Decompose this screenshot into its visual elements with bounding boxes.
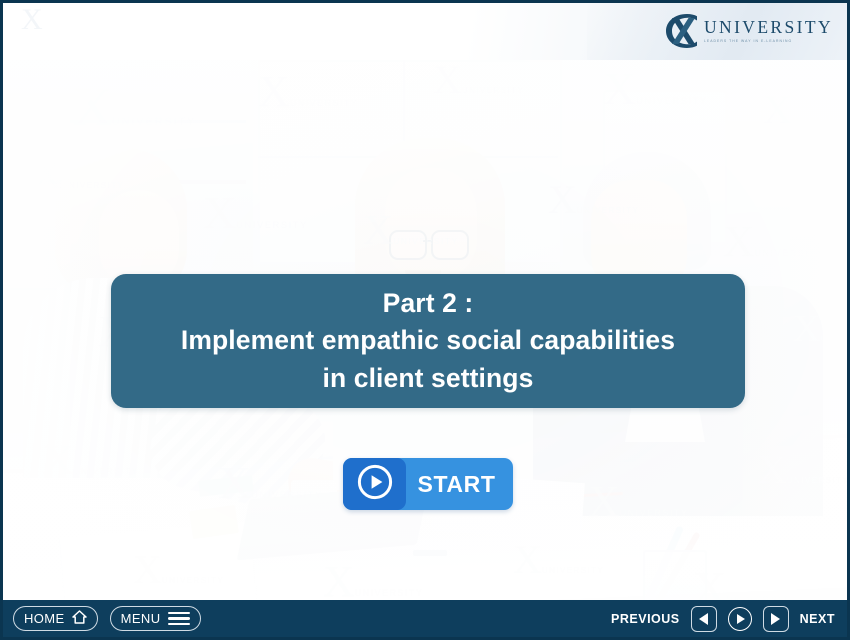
- previous-button[interactable]: [691, 606, 717, 632]
- start-play-icon-box[interactable]: [343, 458, 406, 510]
- x-monogram-icon: [661, 11, 703, 51]
- header-watermark: X: [21, 5, 43, 35]
- slide-title-panel: Part 2 : Implement empathic social capab…: [111, 274, 745, 408]
- slide-header: X UNIVERSITY LEADERS THE WAY IN E-LEARNI…: [3, 3, 847, 60]
- hamburger-icon: [168, 612, 190, 626]
- course-slide-frame: X UNIVERSITY LEADERS THE WAY IN E-LEARNI…: [0, 0, 850, 640]
- menu-button-label: MENU: [121, 611, 161, 626]
- next-label: NEXT: [800, 612, 835, 626]
- logo-wordmark: UNIVERSITY LEADERS THE WAY IN E-LEARNING: [704, 19, 833, 43]
- play-circle-icon: [356, 463, 394, 506]
- home-button[interactable]: HOME: [13, 606, 98, 631]
- home-icon: [72, 610, 87, 627]
- menu-button[interactable]: MENU: [110, 606, 201, 631]
- previous-label: PREVIOUS: [611, 612, 680, 626]
- triangle-right-icon: [771, 613, 780, 625]
- logo-university-text: UNIVERSITY: [704, 19, 833, 37]
- bottom-navigation-bar: HOME MENU PREVIOUS NEXT: [3, 600, 847, 637]
- next-button[interactable]: [763, 606, 789, 632]
- logo-tagline: LEADERS THE WAY IN E-LEARNING: [704, 40, 833, 43]
- slide-title-line-2: Implement empathic social capabilities: [181, 322, 675, 359]
- slide-title-line-1: Part 2 :: [383, 285, 474, 322]
- play-button[interactable]: [728, 607, 752, 631]
- nav-playback-controls: PREVIOUS NEXT: [611, 606, 835, 632]
- triangle-left-icon: [699, 613, 708, 625]
- slide-title-line-3: in client settings: [323, 360, 534, 397]
- home-button-label: HOME: [24, 611, 65, 626]
- start-button-label: START: [406, 471, 513, 498]
- university-logo: UNIVERSITY LEADERS THE WAY IN E-LEARNING: [661, 11, 833, 51]
- play-icon: [737, 614, 745, 624]
- start-button[interactable]: START: [343, 458, 513, 510]
